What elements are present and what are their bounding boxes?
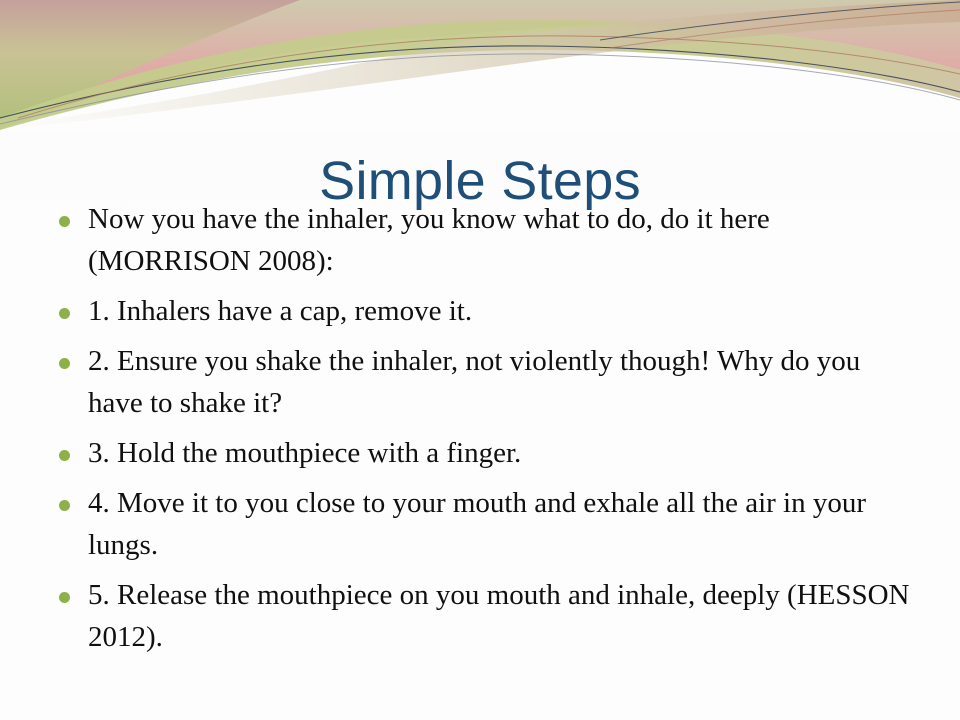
list-item: 4. Move it to you close to your mouth an… [52, 482, 920, 566]
bullet-dot-icon [59, 500, 70, 511]
list-item: 5. Release the mouthpiece on you mouth a… [52, 574, 920, 658]
slide-bullet-list: Now you have the inhaler, you know what … [52, 198, 920, 666]
bullet-dot-icon [59, 592, 70, 603]
presentation-slide: Simple Steps Now you have the inhaler, y… [0, 0, 960, 720]
bullet-dot-icon [59, 216, 70, 227]
list-item-text: 4. Move it to you close to your mouth an… [88, 482, 920, 566]
list-item-text: 1. Inhalers have a cap, remove it. [88, 290, 920, 332]
bullet-dot-icon [59, 450, 70, 461]
list-item: Now you have the inhaler, you know what … [52, 198, 920, 282]
bullet-dot-icon [59, 308, 70, 319]
list-item-text: 2. Ensure you shake the inhaler, not vio… [88, 340, 920, 424]
bullet-dot-icon [59, 358, 70, 369]
list-item: 2. Ensure you shake the inhaler, not vio… [52, 340, 920, 424]
list-item-text: Now you have the inhaler, you know what … [88, 198, 920, 282]
list-item-text: 3. Hold the mouthpiece with a finger. [88, 432, 920, 474]
wave-header-banner-icon [0, 0, 960, 130]
list-item-text: 5. Release the mouthpiece on you mouth a… [88, 574, 920, 658]
list-item: 1. Inhalers have a cap, remove it. [52, 290, 920, 332]
list-item: 3. Hold the mouthpiece with a finger. [52, 432, 920, 474]
